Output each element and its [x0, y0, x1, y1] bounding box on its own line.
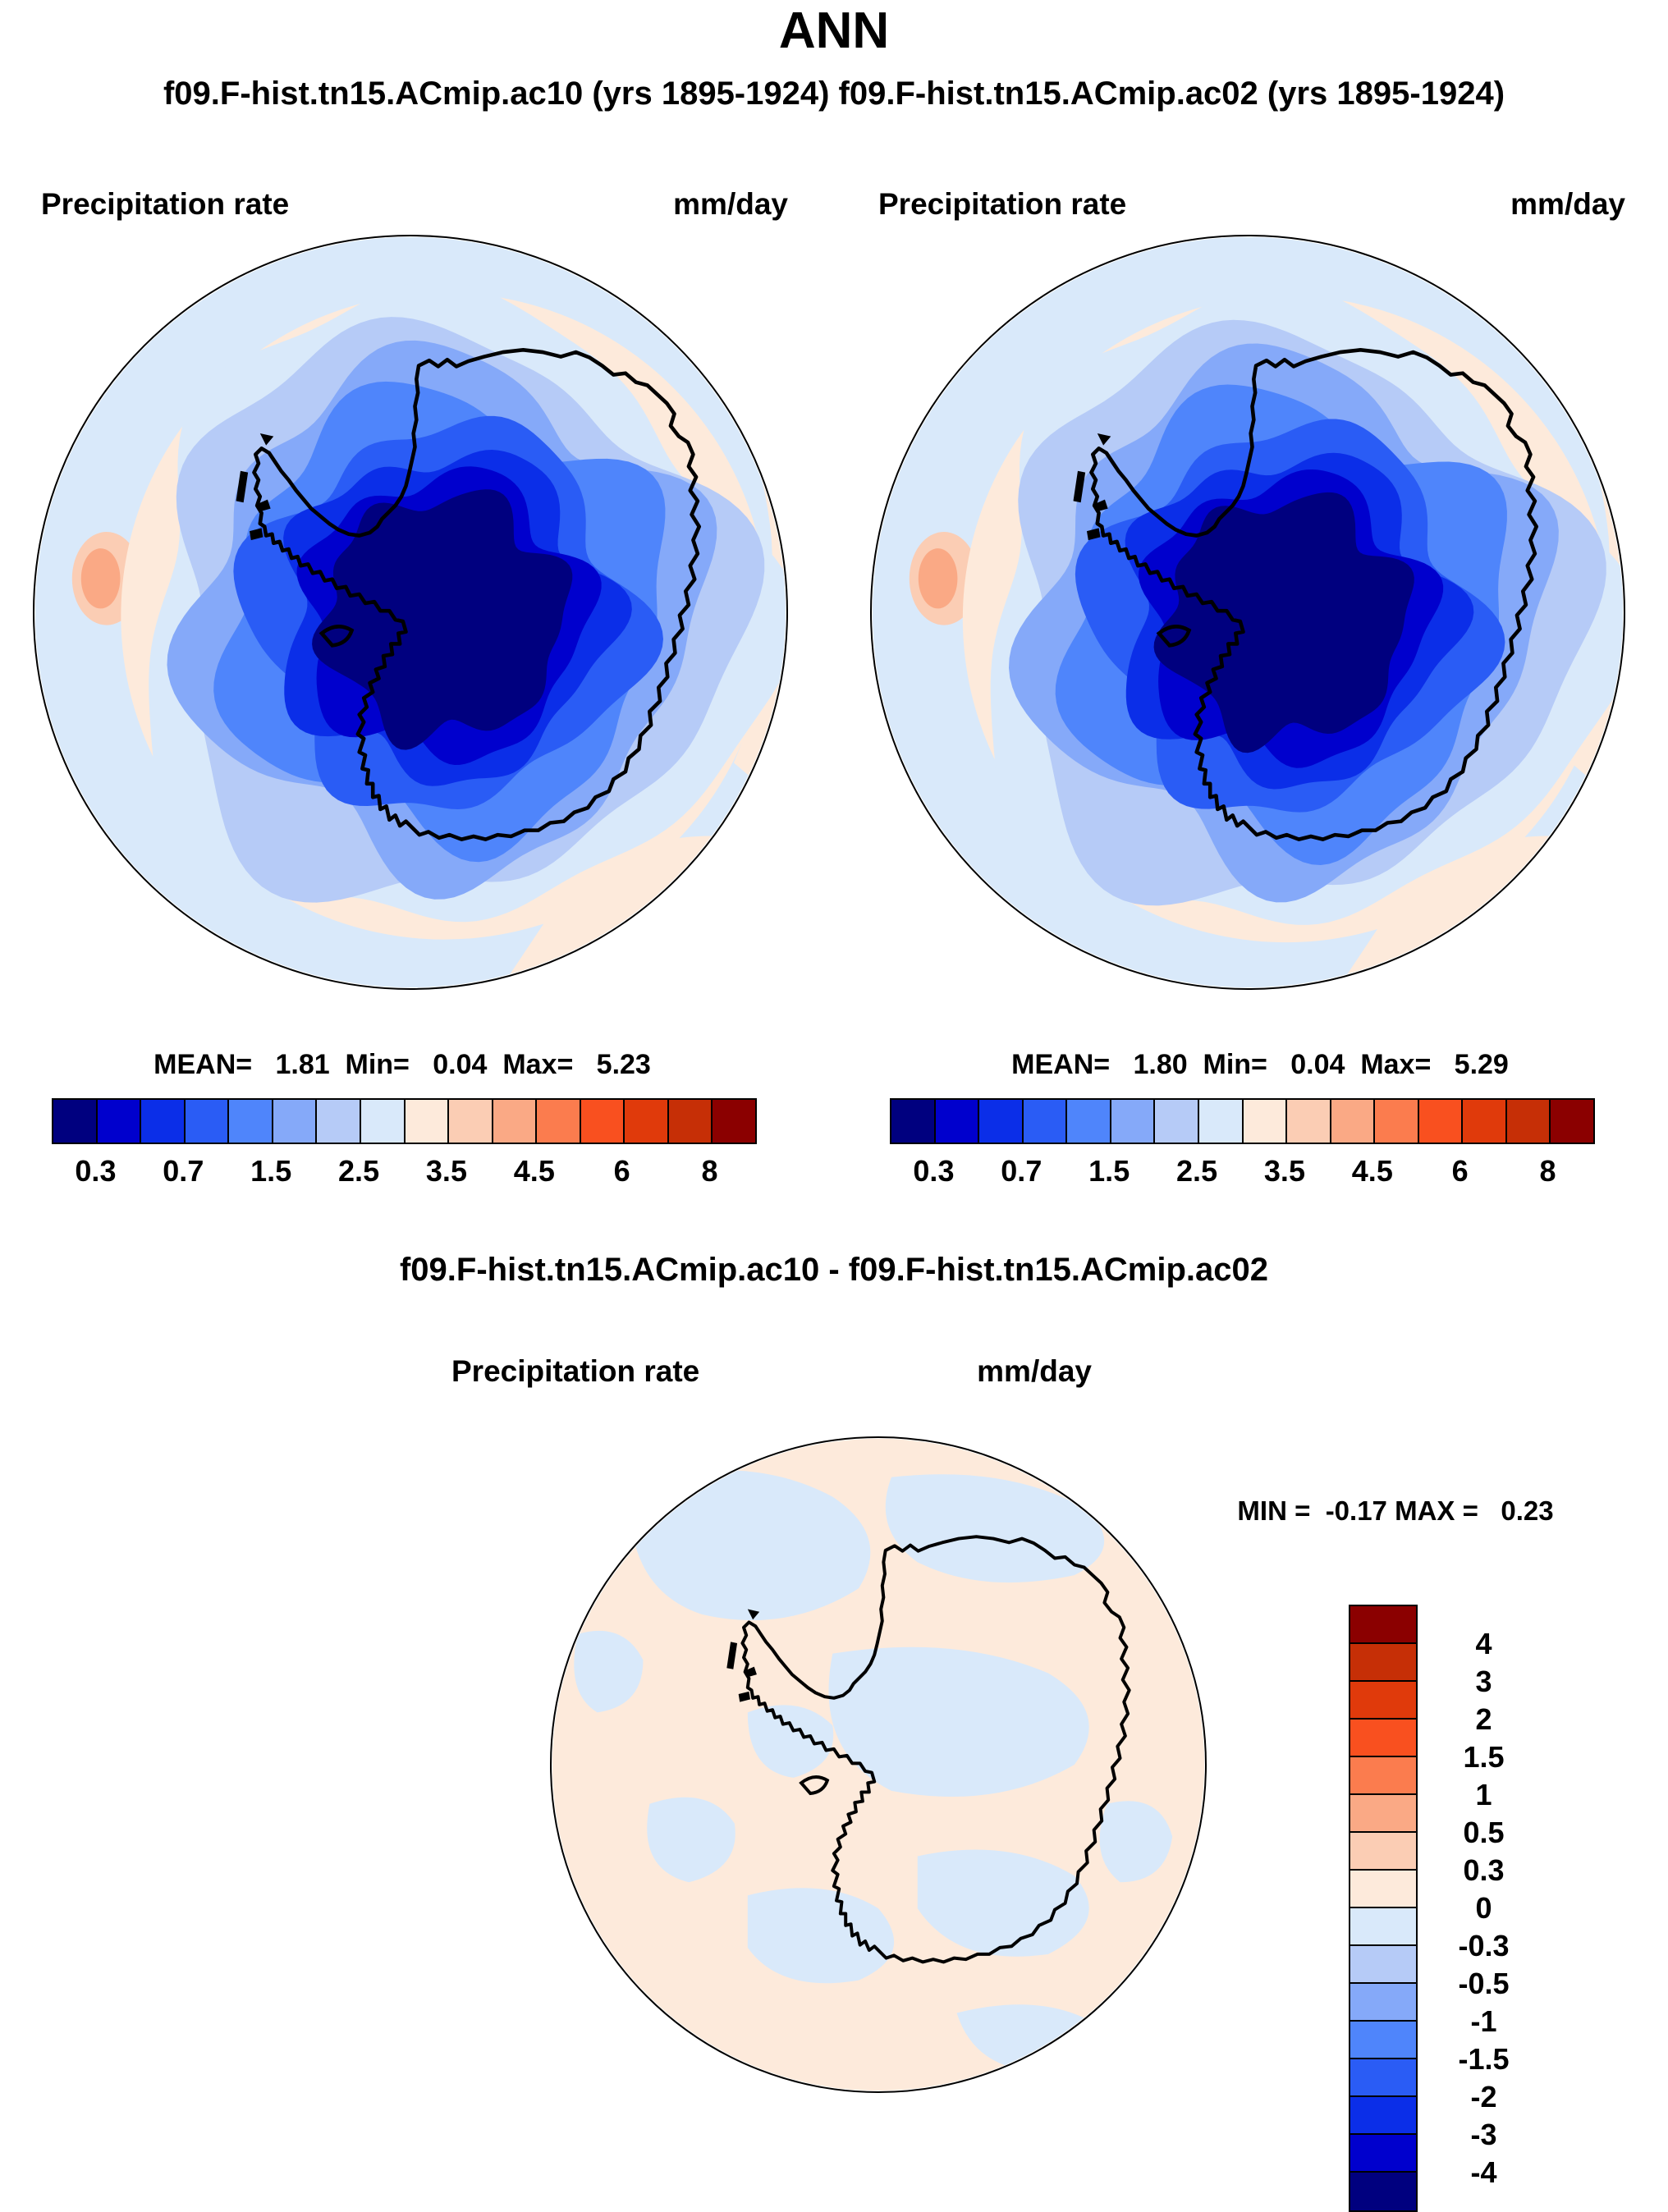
colorbar-cell [581, 1100, 625, 1143]
colorbar-cell [669, 1100, 713, 1143]
colorbar-cell [1287, 1100, 1331, 1143]
stats-left: MEAN= 1.81 Min= 0.04 Max= 5.23 [16, 1049, 788, 1081]
panel-left-header: Precipitation rate mm/day [16, 187, 804, 225]
colorbar-cell [625, 1100, 669, 1143]
colorbar-tick-label: 3.5 [1264, 1154, 1305, 1188]
colorbar-tick-label: 0.5 [1432, 1816, 1535, 1850]
colorbar-tick-label: 2.5 [338, 1154, 379, 1188]
panel-right-header: Precipitation rate mm/day [854, 187, 1642, 225]
colorbar-cell [1350, 1682, 1416, 1720]
colorbar-cell [713, 1100, 755, 1143]
colorbar-cell [1375, 1100, 1419, 1143]
colorbar-cell [1067, 1100, 1111, 1143]
antarctic-map-difference [550, 1436, 1207, 2093]
colorbar-cell [1155, 1100, 1199, 1143]
colorbar-cell [1551, 1100, 1593, 1143]
colorbar-tick-label: 8 [1540, 1154, 1556, 1188]
colorbar-tick-label: -0.3 [1432, 1929, 1535, 1963]
colorbar-cell [317, 1100, 361, 1143]
colorbar-tick-label: 3.5 [426, 1154, 467, 1188]
map-diff-wrapper [550, 1436, 1207, 2093]
colorbar-cell [493, 1100, 538, 1143]
colorbar-cell [1350, 2135, 1416, 2173]
page-title: ANN [0, 2, 1668, 60]
colorbar-cell [1350, 2173, 1416, 2210]
panel-left-variable-label: Precipitation rate [41, 187, 289, 222]
map-right-wrapper [870, 235, 1625, 990]
colorbar-right [890, 1098, 1595, 1144]
colorbar-tick-label: -4 [1432, 2155, 1535, 2190]
colorbar-cell [98, 1100, 142, 1143]
colorbar-tick-label: 4.5 [514, 1154, 555, 1188]
colorbar-tick-label: 6 [1452, 1154, 1469, 1188]
antarctic-map-right [870, 235, 1625, 990]
colorbar-cell [1350, 1984, 1416, 2022]
colorbar-cell [1350, 1908, 1416, 1946]
colorbar-tick-label: 0 [1432, 1891, 1535, 1926]
colorbar-cell [229, 1100, 273, 1143]
colorbar-tick-label: 1.5 [1432, 1740, 1535, 1775]
colorbar-cell [1350, 1606, 1416, 1644]
colorbar-cell [1350, 1720, 1416, 1757]
colorbar-tick-label: -1.5 [1432, 2042, 1535, 2077]
panel-diff-units-label: mm/day [977, 1354, 1092, 1389]
colorbar-tick-label: 0.7 [1001, 1154, 1042, 1188]
panel-left-units-label: mm/day [673, 187, 788, 222]
colorbar-tick-label: 1.5 [1088, 1154, 1130, 1188]
colorbar-cell [1419, 1100, 1464, 1143]
colorbar-tick-label: 3 [1432, 1665, 1535, 1699]
colorbar-cell [1350, 1795, 1416, 1833]
colorbar-cell [53, 1100, 98, 1143]
difference-minmax: MIN = -0.17 MAX = 0.23 [1182, 1495, 1609, 1527]
stats-right: MEAN= 1.80 Min= 0.04 Max= 5.29 [874, 1049, 1646, 1081]
colorbar-cell [1350, 2097, 1416, 2135]
colorbar-cell [1331, 1100, 1376, 1143]
colorbar-left [52, 1098, 757, 1144]
panel-diff-header: Precipitation rate mm/day [410, 1354, 1281, 1392]
colorbar-cell [1350, 2059, 1416, 2097]
colorbar-tick-label: 2 [1432, 1702, 1535, 1737]
colorbar-tick-label: 0.7 [163, 1154, 204, 1188]
colorbar-tick-label: 2.5 [1176, 1154, 1217, 1188]
colorbar-tick-label: 0.3 [913, 1154, 954, 1188]
colorbar-tick-label: 6 [614, 1154, 630, 1188]
colorbar-tick-label: -3 [1432, 2118, 1535, 2152]
panel-right: Precipitation rate mm/day [854, 187, 1642, 1057]
contour-band [919, 548, 958, 608]
map-left-wrapper [33, 235, 788, 990]
colorbar-tick-label: -2 [1432, 2080, 1535, 2114]
colorbar-left-labels: 0.30.71.52.53.54.568 [52, 1154, 754, 1192]
contour-band [81, 548, 121, 608]
colorbar-cell [449, 1100, 493, 1143]
colorbar-tick-label: 4 [1432, 1627, 1535, 1661]
map-contours [872, 236, 1624, 988]
colorbar-cell [1199, 1100, 1244, 1143]
colorbar-cell [1350, 1833, 1416, 1871]
colorbar-cell [1507, 1100, 1551, 1143]
colorbar-cell [1350, 1757, 1416, 1795]
colorbar-cell [1244, 1100, 1288, 1143]
map-contours [34, 236, 786, 988]
colorbar-right-labels: 0.30.71.52.53.54.568 [890, 1154, 1592, 1192]
colorbar-cell [361, 1100, 406, 1143]
colorbar-cell [1111, 1100, 1156, 1143]
colorbar-cell [1463, 1100, 1507, 1143]
colorbar-tick-label: 4.5 [1352, 1154, 1393, 1188]
panel-diff-variable-label: Precipitation rate [451, 1354, 699, 1389]
panel-left: Precipitation rate mm/day [16, 187, 804, 1057]
colorbar-cell [141, 1100, 186, 1143]
colorbar-tick-label: -0.5 [1432, 1967, 1535, 2001]
colorbar-cell [936, 1100, 980, 1143]
colorbar-tick-label: -1 [1432, 2004, 1535, 2039]
colorbar-cell [1350, 1644, 1416, 1682]
colorbar-cell [1350, 1871, 1416, 1908]
colorbar-tick-label: 0.3 [75, 1154, 116, 1188]
colorbar-cell [1024, 1100, 1068, 1143]
difference-title: f09.F-hist.tn15.ACmip.ac10 - f09.F-hist.… [0, 1252, 1668, 1289]
panel-right-units-label: mm/day [1510, 187, 1625, 222]
colorbar-cell [537, 1100, 581, 1143]
colorbar-tick-label: 8 [702, 1154, 718, 1188]
colorbar-cell [979, 1100, 1024, 1143]
colorbar-difference [1349, 1605, 1418, 2212]
panel-right-variable-label: Precipitation rate [878, 187, 1126, 222]
colorbar-cell [1350, 1946, 1416, 1984]
colorbar-cell [406, 1100, 450, 1143]
colorbar-cell [273, 1100, 318, 1143]
colorbar-tick-label: 1 [1432, 1778, 1535, 1812]
antarctic-map-left [33, 235, 788, 990]
colorbar-cell [891, 1100, 936, 1143]
colorbar-tick-label: 0.3 [1432, 1853, 1535, 1888]
colorbar-cell [186, 1100, 230, 1143]
panel-difference: Precipitation rate mm/day [410, 1354, 1281, 2208]
case-subtitle: f09.F-hist.tn15.ACmip.ac10 (yrs 1895-192… [0, 76, 1668, 112]
colorbar-cell [1350, 2022, 1416, 2059]
map-contours [552, 1438, 1205, 2091]
colorbar-tick-label: 1.5 [250, 1154, 291, 1188]
